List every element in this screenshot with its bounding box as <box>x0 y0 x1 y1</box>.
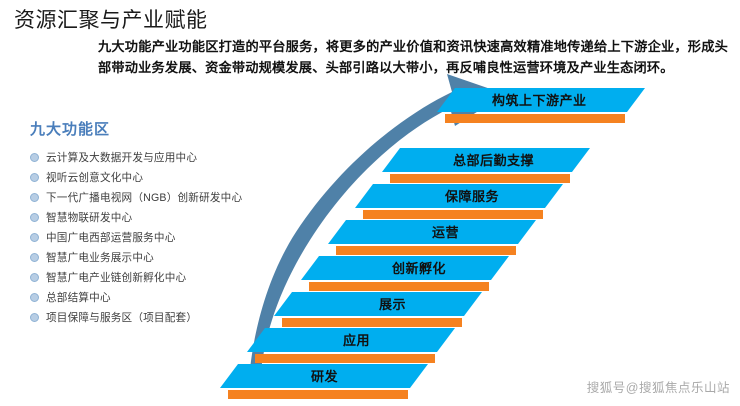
bullet-icon <box>30 153 39 162</box>
sidebar-item-label: 智慧广电业务展示中心 <box>46 250 154 265</box>
step-label-8: 总部后勤支撑 <box>453 150 534 169</box>
sidebar-item-label: 视听云创意文化中心 <box>46 170 143 185</box>
sidebar-list: 云计算及大数据开发与应用中心 视听云创意文化中心 下一代广播电视网（NGB）创新… <box>30 148 245 327</box>
bullet-icon <box>30 233 39 242</box>
bullet-icon <box>30 173 39 182</box>
step-label-9: 构筑上下游产业 <box>492 90 587 109</box>
bullet-icon <box>30 273 39 282</box>
curved-up-arrow-icon <box>249 74 505 384</box>
sidebar-item-8[interactable]: 项目保障与服务区（项目配套） <box>30 308 245 327</box>
sidebar-item-label: 云计算及大数据开发与应用中心 <box>46 150 197 165</box>
sidebar-item-label: 智慧广电产业链创新孵化中心 <box>46 270 186 285</box>
sidebar-item-1[interactable]: 视听云创意文化中心 <box>30 168 245 187</box>
bullet-icon <box>30 293 39 302</box>
page-title: 资源汇聚与产业赋能 <box>14 4 208 34</box>
step-label-3: 应用 <box>343 330 370 349</box>
watermark: 搜狐号@搜狐焦点乐山站 <box>587 377 730 396</box>
sidebar-item-5[interactable]: 智慧广电业务展示中心 <box>30 248 245 267</box>
sidebar-heading: 九大功能区 <box>30 118 245 139</box>
step-label-5: 创新孵化 <box>392 258 446 277</box>
sidebar-item-2[interactable]: 下一代广播电视网（NGB）创新研发中心 <box>30 188 245 207</box>
sidebar-item-label: 项目保障与服务区（项目配套） <box>46 310 197 325</box>
sidebar-item-label: 下一代广播电视网（NGB）创新研发中心 <box>46 190 242 205</box>
bullet-icon <box>30 313 39 322</box>
sidebar-item-7[interactable]: 总部结算中心 <box>30 288 245 307</box>
step-shape <box>274 292 482 327</box>
sidebar-item-label: 总部结算中心 <box>46 290 111 305</box>
sidebar-item-4[interactable]: 中国广电西部运营服务中心 <box>30 228 245 247</box>
slide-canvas: 资源汇聚与产业赋能 九大功能产业功能区打造的平台服务，将更多的产业价值和资讯快速… <box>0 0 740 406</box>
sidebar-item-6[interactable]: 智慧广电产业链创新孵化中心 <box>30 268 245 287</box>
sidebar-item-label: 中国广电西部运营服务中心 <box>46 230 176 245</box>
bullet-icon <box>30 253 39 262</box>
sidebar-item-3[interactable]: 智慧物联研发中心 <box>30 208 245 227</box>
bullet-icon <box>30 193 39 202</box>
step-label-6: 运营 <box>432 222 459 241</box>
sidebar: 九大功能区 云计算及大数据开发与应用中心 视听云创意文化中心 下一代广播电视网（… <box>30 118 245 328</box>
step-label-2: 研发 <box>311 366 338 385</box>
step-label-4: 展示 <box>379 294 406 313</box>
sidebar-item-0[interactable]: 云计算及大数据开发与应用中心 <box>30 148 245 167</box>
sidebar-item-label: 智慧物联研发中心 <box>46 210 132 225</box>
lead-paragraph: 九大功能产业功能区打造的平台服务，将更多的产业价值和资讯快速高效精准地传递给上下… <box>98 36 728 78</box>
bullet-icon <box>30 213 39 222</box>
step-label-7: 保障服务 <box>445 186 499 205</box>
